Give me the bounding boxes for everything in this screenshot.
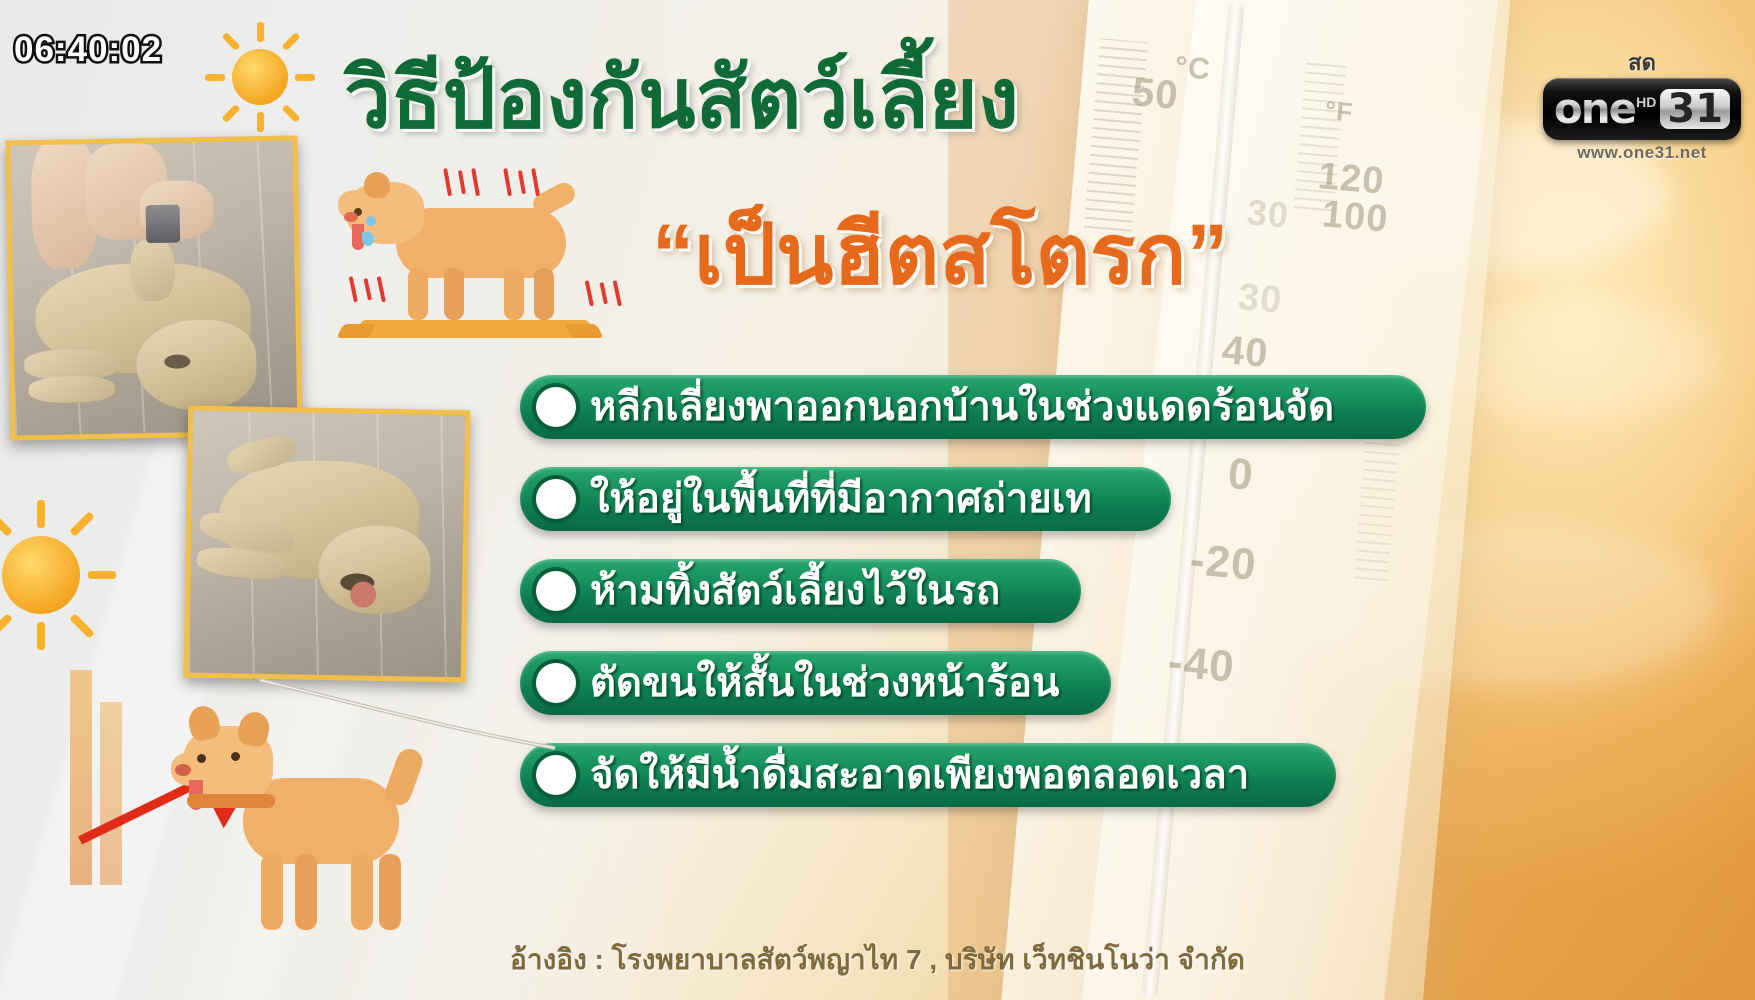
thermometer-label-100: 100 xyxy=(1320,193,1390,242)
broadcast-graphic-stage: °C °F 50 120 100 30 30 40 0 -20 -40 06:4… xyxy=(0,0,1755,1000)
tip-text: ตัดขนให้สั้นในช่วงหน้าร้อน xyxy=(590,663,1085,703)
logo-one-text: one xyxy=(1554,88,1635,130)
thermometer-label-50: 50 xyxy=(1130,70,1180,119)
thermometer-label-40: 40 xyxy=(1220,328,1270,377)
bullet-icon xyxy=(536,387,576,427)
tips-list: หลีกเลี่ยงพาออกนอกบ้านในช่วงแดดร้อนจัด ใ… xyxy=(520,375,1426,835)
sun-icon xyxy=(205,22,315,132)
thermometer-unit-fahrenheit: °F xyxy=(1324,95,1355,128)
tip-text: ให้อยู่ในพื้นที่ที่มีอากาศถ่ายเท xyxy=(590,479,1118,519)
page-title: วิธีป้องกันสัตว์เลี้ยง xyxy=(344,54,1019,142)
live-badge-label: สด xyxy=(1539,52,1745,74)
list-item[interactable]: ห้ามทิ้งสัตว์เลี้ยงไว้ในรถ xyxy=(520,559,1081,623)
thermometer-label-30: 30 xyxy=(1245,191,1291,237)
logo-hd-badge: HD xyxy=(1636,94,1656,110)
tip-text: ห้ามทิ้งสัตว์เลี้ยงไว้ในรถ xyxy=(590,571,1026,611)
broadcast-timestamp: 06:40:02 xyxy=(14,30,162,70)
logo-one-group: one HD xyxy=(1554,88,1656,130)
tip-text: จัดให้มีน้ำดื่มสะอาดเพียงพอตลอดเวลา xyxy=(590,755,1275,795)
channel-branding: สด one HD 31 www.one31.net xyxy=(1539,52,1745,163)
logo-channel-number: 31 xyxy=(1660,89,1730,129)
tip-text: หลีกเลี่ยงพาออกนอกบ้านในช่วงแดดร้อนจัด xyxy=(590,387,1360,427)
list-item[interactable]: หลีกเลี่ยงพาออกนอกบ้านในช่วงแดดร้อนจัด xyxy=(520,375,1426,439)
list-item[interactable]: จัดให้มีน้ำดื่มสะอาดเพียงพอตลอดเวลา xyxy=(520,743,1336,807)
page-subtitle: “เป็นฮีตสโตรก” xyxy=(652,210,1228,298)
channel-logo: one HD 31 xyxy=(1543,78,1741,140)
list-item[interactable]: ตัดขนให้สั้นในช่วงหน้าร้อน xyxy=(520,651,1111,715)
source-citation: อ้างอิง : โรงพยาบาลสัตว์พญาไท 7 , บริษัท… xyxy=(0,938,1755,982)
thermometer-label-30-lower: 30 xyxy=(1236,276,1284,323)
bullet-icon xyxy=(536,479,576,519)
channel-website: www.one31.net xyxy=(1539,143,1745,163)
bullet-icon xyxy=(536,571,576,611)
collapsed-dog-photo xyxy=(5,135,302,440)
panting-dog-icon xyxy=(336,168,636,338)
list-item[interactable]: ให้อยู่ในพื้นที่ที่มีอากาศถ่ายเท xyxy=(520,467,1171,531)
sun-icon xyxy=(0,500,116,650)
